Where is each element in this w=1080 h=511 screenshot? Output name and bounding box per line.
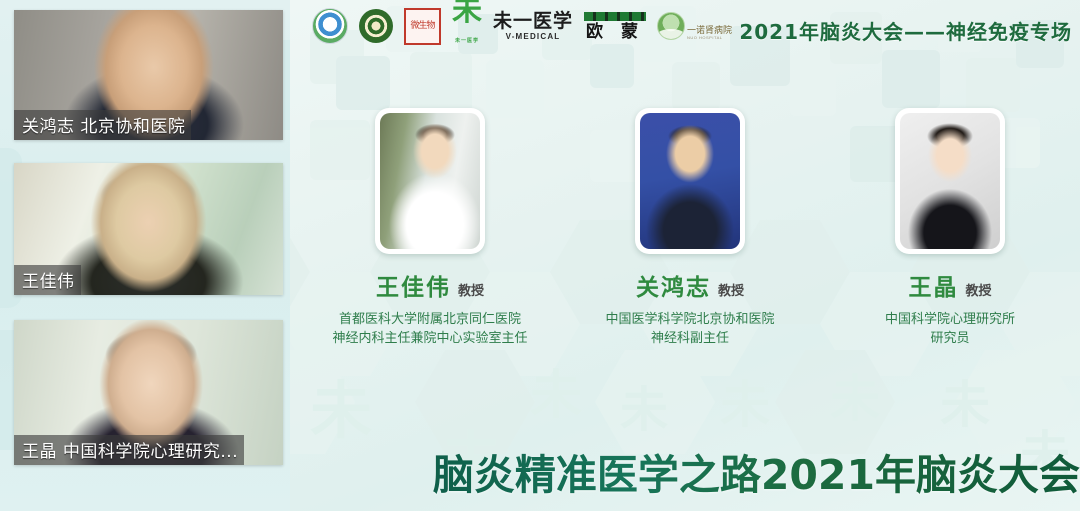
watermark-glyph: 未 bbox=[530, 370, 582, 422]
speaker-card[interactable]: 王佳伟 教授 首都医科大学附属北京同仁医院 神经内科主任兼院中心实验室主任 bbox=[300, 108, 560, 358]
institution-emblem-blue-green-icon bbox=[312, 8, 348, 44]
speaker-affiliation: 首都医科大学附属北京同仁医院 神经内科主任兼院中心实验室主任 bbox=[332, 311, 527, 349]
v-medical-en-text: V-MEDICAL bbox=[506, 33, 561, 41]
speaker-name: 关鸿志 bbox=[636, 268, 711, 302]
speaker-name: 王佳伟 bbox=[376, 268, 451, 302]
speaker-photo-frame bbox=[635, 108, 745, 254]
speaker-photo-frame bbox=[375, 108, 485, 254]
red-seal-logo-icon: 微生物 bbox=[404, 8, 441, 45]
hospital-disc-icon bbox=[657, 12, 685, 40]
speaker-affiliation-line1: 中国医学科学院北京协和医院 bbox=[605, 311, 774, 330]
event-headline: 脑炎精准医学之路2021年脑炎大会 bbox=[433, 441, 1080, 501]
participant-name-label: 关鸿志 北京协和医院 bbox=[14, 110, 191, 140]
speaker-title: 教授 bbox=[718, 280, 744, 299]
watermark-glyph: 未 bbox=[310, 380, 372, 442]
speaker-title: 教授 bbox=[965, 280, 991, 299]
speaker-photo-frame bbox=[895, 108, 1005, 254]
speaker-portrait bbox=[640, 113, 740, 249]
watermark-glyph: 未 bbox=[940, 380, 990, 430]
wei-sub-text: 未一医学 bbox=[452, 26, 482, 56]
wei-mark-logo-icon: 未 未一医学 bbox=[452, 0, 482, 56]
watermark-glyph: 未 bbox=[720, 380, 770, 430]
speaker-card[interactable]: 关鸿志 教授 中国医学科学院北京协和医院 神经科副主任 bbox=[560, 108, 820, 358]
video-tile[interactable]: 王佳伟 bbox=[14, 163, 283, 295]
speaker-portrait bbox=[900, 113, 1000, 249]
hospital-logo: 一诺肾病院 NUO HOSPITAL bbox=[657, 12, 732, 40]
speaker-portrait bbox=[380, 113, 480, 249]
v-medical-cn-text: 未一医学 bbox=[493, 12, 573, 31]
video-tile[interactable]: 关鸿志 北京协和医院 bbox=[14, 10, 283, 140]
red-seal-text: 微生物 bbox=[410, 22, 434, 30]
participant-name-label: 王晶 中国科学院心理研究... bbox=[14, 435, 244, 465]
institution-emblem-green-gold-icon bbox=[359, 9, 393, 43]
speaker-title: 教授 bbox=[458, 280, 484, 299]
watermark-glyph: 未 bbox=[830, 374, 880, 424]
euroimmun-bar-icon bbox=[584, 12, 646, 21]
speaker-name: 王晶 bbox=[908, 268, 958, 302]
speaker-affiliation-line2: 神经内科主任兼院中心实验室主任 bbox=[332, 330, 527, 349]
speaker-affiliation-line1: 中国科学院心理研究所 bbox=[885, 311, 1015, 330]
speaker-affiliation-line1: 首都医科大学附属北京同仁医院 bbox=[332, 311, 527, 330]
watermark-glyph: 未 bbox=[620, 386, 668, 434]
video-participant-rail: 关鸿志 北京协和医院 王佳伟 王晶 中国科学院心理研究... bbox=[0, 0, 290, 511]
speaker-affiliation: 中国科学院心理研究所 研究员 bbox=[885, 311, 1015, 349]
v-medical-logo: 未一医学 V-MEDICAL bbox=[493, 12, 573, 41]
euroimmun-logo: 欧 蒙 bbox=[584, 12, 646, 41]
euroimmun-cn-text: 欧 蒙 bbox=[586, 24, 644, 41]
video-tile[interactable]: 王晶 中国科学院心理研究... bbox=[14, 320, 283, 465]
conference-header-title: 2021年脑炎大会——神经免疫专场 bbox=[739, 16, 1072, 45]
speaker-affiliation: 中国医学科学院北京协和医院 神经科副主任 bbox=[605, 311, 774, 349]
speaker-card[interactable]: 王晶 教授 中国科学院心理研究所 研究员 bbox=[820, 108, 1080, 358]
speaker-card-list: 王佳伟 教授 首都医科大学附属北京同仁医院 神经内科主任兼院中心实验室主任 关鸿… bbox=[300, 108, 1080, 358]
speaker-affiliation-line2: 神经科副主任 bbox=[605, 330, 774, 349]
wei-glyph: 未 bbox=[452, 0, 482, 28]
participant-name-label: 王佳伟 bbox=[14, 265, 81, 295]
hospital-sub-text: NUO HOSPITAL bbox=[687, 36, 732, 40]
presentation-slide: 未 未 未 未 未 未 未 未 关鸿志 北京协和医院 王佳伟 王晶 中国科学院心… bbox=[0, 0, 1080, 511]
speaker-affiliation-line2: 研究员 bbox=[885, 330, 1015, 349]
sponsor-logo-row: 微生物 未 未一医学 未一医学 V-MEDICAL 欧 蒙 一诺肾病院 NUO … bbox=[312, 6, 732, 46]
